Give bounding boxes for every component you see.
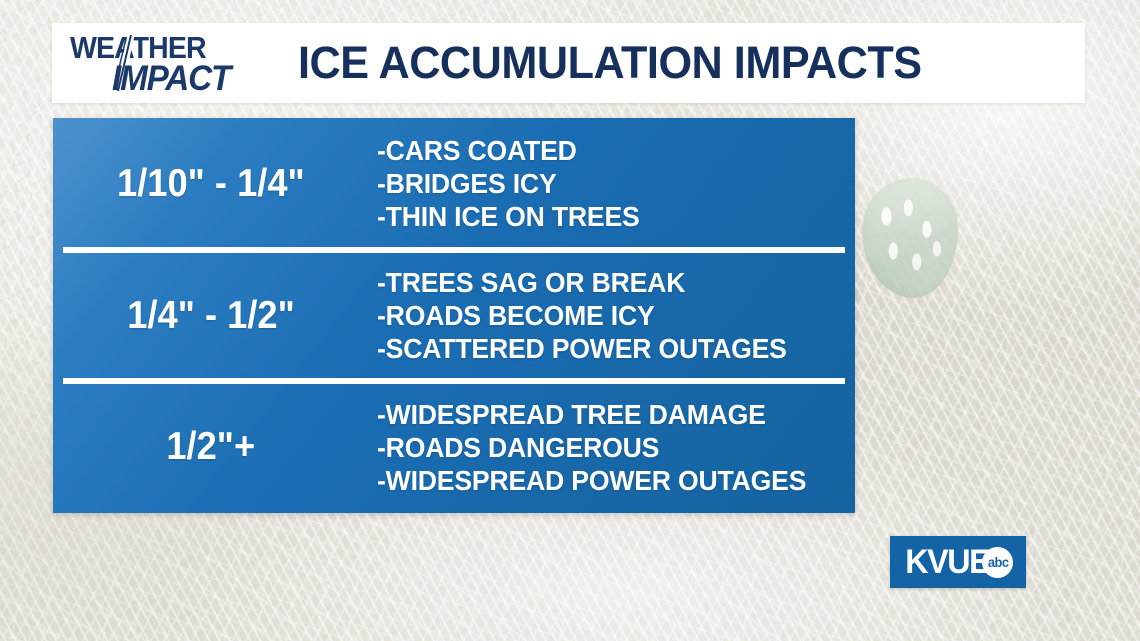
weather-graphic: WEATHER IMPACT ICE ACCUMULATION IMPACTS … [0,0,1140,641]
header-bar: WEATHER IMPACT ICE ACCUMULATION IMPACTS [52,23,1085,103]
impact-item: -SCATTERED POWER OUTAGES [377,332,824,365]
impact-item: -ROADS DANGEROUS [377,431,824,464]
weather-impact-logo: WEATHER IMPACT [68,29,278,97]
ice-range-cell: 1/10" - 1/4" [53,162,375,206]
table-row: 1/4" - 1/2" -TREES SAG OR BREAK -ROADS B… [53,250,855,382]
impact-item: -BRIDGES ICY [377,167,824,200]
table-row: 1/2"+ -WIDESPREAD TREE DAMAGE -ROADS DAN… [53,381,855,513]
logo-impact-text: IMPACT [112,59,230,99]
ice-range-label: 1/10" - 1/4" [117,162,305,206]
kvue-logo: KVUE abc [890,536,1026,588]
kvue-logo-inner: KVUE abc [903,543,1013,582]
impact-item: -CARS COATED [377,134,824,167]
abc-network-icon: abc [982,547,1013,578]
table-row: 1/10" - 1/4" -CARS COATED -BRIDGES ICY -… [53,118,855,250]
impacts-cell: -WIDESPREAD TREE DAMAGE -ROADS DANGEROUS… [375,398,855,497]
ice-range-label: 1/2"+ [167,425,256,469]
impacts-table: 1/10" - 1/4" -CARS COATED -BRIDGES ICY -… [53,118,855,513]
impacts-cell: -TREES SAG OR BREAK -ROADS BECOME ICY -S… [375,266,855,365]
impact-item: -WIDESPREAD POWER OUTAGES [377,464,824,497]
impact-item: -ROADS BECOME ICY [377,299,824,332]
ice-range-cell: 1/2"+ [53,425,375,469]
abc-label: abc [987,554,1008,570]
ice-range-cell: 1/4" - 1/2" [53,294,375,338]
ice-range-label: 1/4" - 1/2" [127,294,294,338]
kvue-callsign: KVUE [905,543,989,582]
impact-item: -TREES SAG OR BREAK [377,266,824,299]
impact-item: -WIDESPREAD TREE DAMAGE [377,398,824,431]
impact-item: -THIN ICE ON TREES [377,200,824,233]
page-title: ICE ACCUMULATION IMPACTS [298,37,922,89]
impacts-cell: -CARS COATED -BRIDGES ICY -THIN ICE ON T… [375,134,855,233]
